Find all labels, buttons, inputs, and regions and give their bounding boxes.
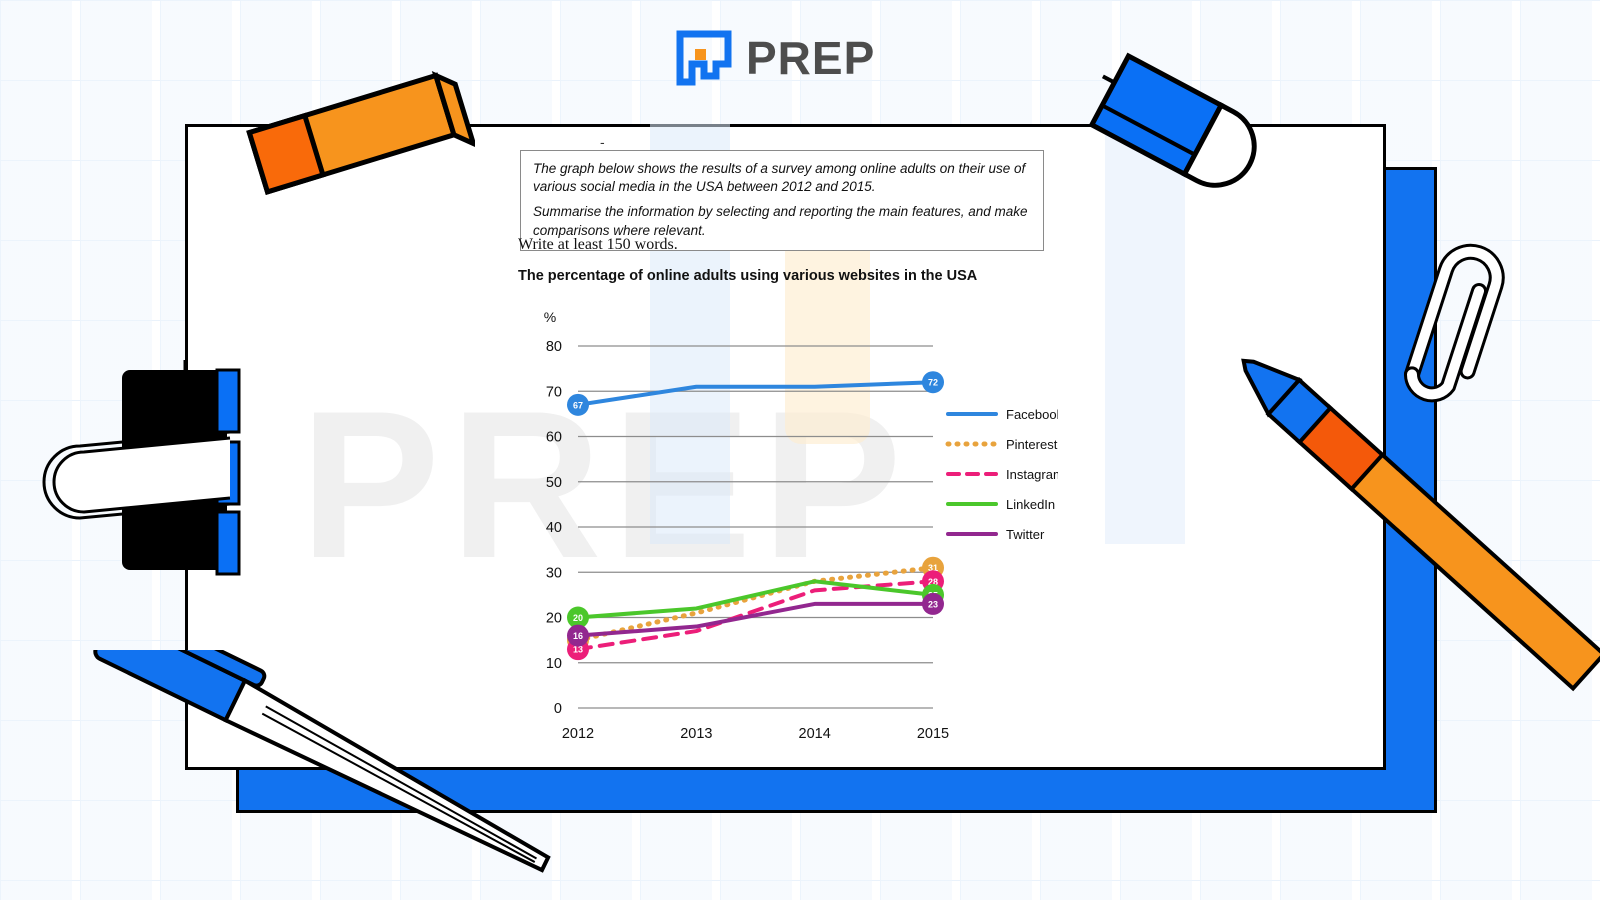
- legend-label-linkedin: LinkedIn: [1006, 497, 1055, 512]
- y-tick-label: 80: [546, 339, 562, 355]
- data-point-value-facebook: 67: [573, 400, 583, 410]
- orange-eraser: [225, 55, 475, 205]
- prep-logo-mark: [676, 30, 732, 86]
- y-tick-label: 70: [546, 384, 562, 400]
- task-line-1: The graph below shows the results of a s…: [533, 160, 1033, 196]
- blue-pen: [40, 650, 620, 910]
- series-line-facebook: [578, 382, 933, 405]
- legend-label-pinterest: Pinterest: [1006, 437, 1058, 452]
- orange-pen: [1190, 330, 1600, 710]
- y-tick-label: 50: [546, 475, 562, 491]
- x-tick-label: 2013: [680, 726, 712, 742]
- legend-label-instagram: Instagram: [1006, 467, 1058, 482]
- y-axis-unit-label: %: [544, 309, 556, 325]
- x-tick-label: 2015: [917, 726, 949, 742]
- y-tick-label: 30: [546, 565, 562, 581]
- legend-label-twitter: Twitter: [1006, 527, 1045, 542]
- word-count-instruction: Write at least 150 words.: [518, 236, 678, 254]
- data-point-value-facebook: 72: [928, 378, 938, 388]
- y-tick-label: 60: [546, 430, 562, 446]
- legend-label-facebook: Facebook: [1006, 407, 1058, 422]
- x-tick-label: 2014: [799, 726, 831, 742]
- chart-title: The percentage of online adults using va…: [518, 268, 977, 284]
- data-point-value-twitter: 16: [573, 631, 583, 641]
- task-line-2: Summarise the information by selecting a…: [533, 203, 1033, 239]
- prep-logo: PREP: [676, 30, 875, 86]
- binder-clip: [10, 360, 250, 580]
- blue-eraser: [1085, 48, 1275, 198]
- dash-mark: -: [600, 134, 605, 150]
- y-tick-label: 20: [546, 611, 562, 627]
- data-point-value-twitter: 23: [928, 599, 938, 609]
- y-tick-label: 40: [546, 520, 562, 536]
- prep-logo-text: PREP: [746, 31, 875, 85]
- data-point-value-linkedin: 20: [573, 613, 583, 623]
